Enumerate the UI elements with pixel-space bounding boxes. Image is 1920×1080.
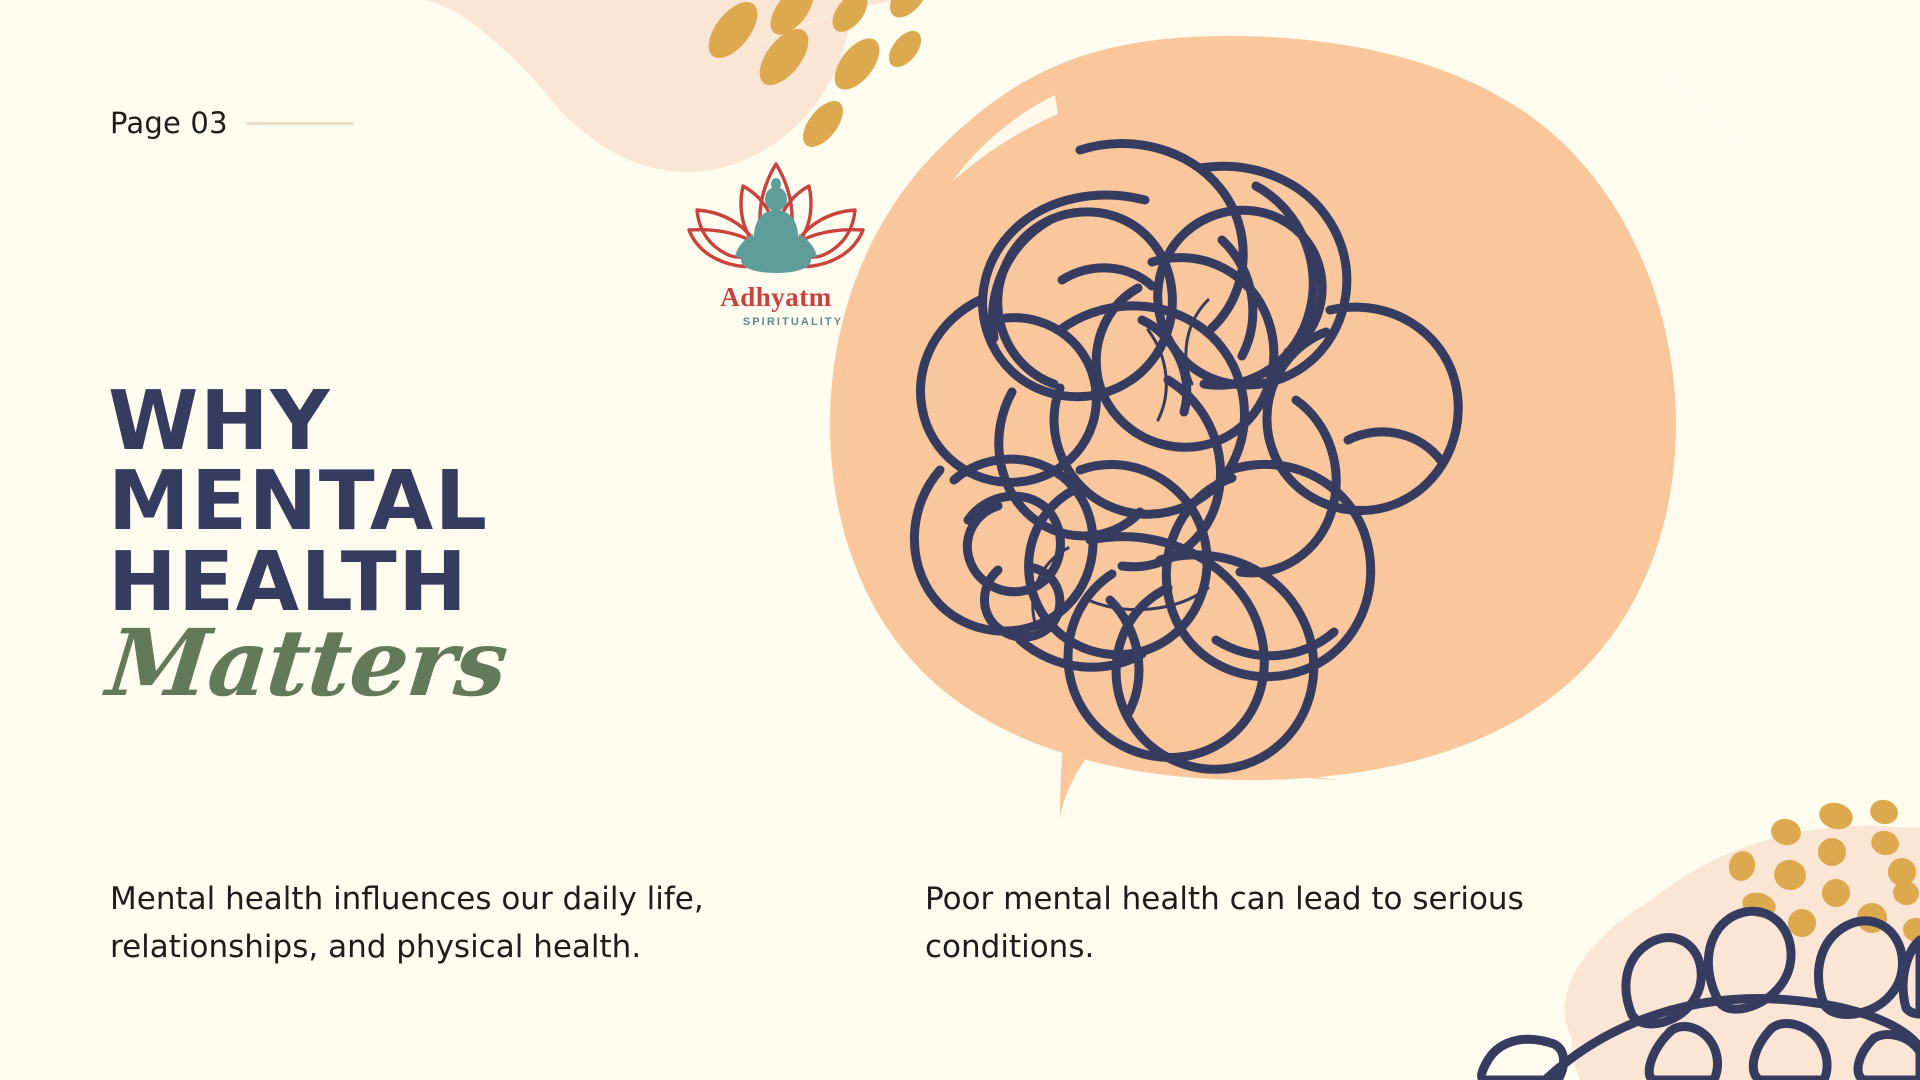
brand-logo: Adhyatm SPIRITUALITY	[668, 148, 884, 328]
blob-bottom-right	[1572, 826, 1920, 1080]
branch-leaf-u4	[1903, 940, 1920, 1014]
headline-line-1: WHY	[108, 382, 506, 462]
gold-dots-top	[699, 0, 935, 154]
page-marker-rule	[246, 122, 354, 125]
branch-leaf-l1	[1482, 1039, 1564, 1080]
headline-script-word: Matters	[103, 617, 511, 709]
blob-top-left	[400, 0, 900, 94]
page-number-label: Page 03	[110, 106, 228, 140]
tangled-thought-scribble	[914, 144, 1458, 770]
lotus-meditation-icon	[681, 148, 871, 288]
branch-leaf-l2	[1649, 1027, 1717, 1080]
bubble-highlight-right	[1658, 70, 1800, 254]
blob-bottom-right-core	[1539, 783, 1920, 1080]
page-marker: Page 03	[110, 106, 354, 140]
speech-bubble-tail	[1060, 672, 1136, 820]
branch-leaf-l4	[1858, 1034, 1920, 1080]
tangled-thought-scribble-thin	[1033, 300, 1208, 626]
branch-leaf-l3	[1753, 1024, 1827, 1080]
branch-stem	[1545, 999, 1920, 1080]
page-title: WHY MENTAL HEALTH Matters	[108, 382, 506, 709]
logo-wordmark: Adhyatm	[668, 284, 884, 311]
bubble-highlight-bottom	[1110, 704, 1340, 780]
body-paragraph-left: Mental health influences our daily life,…	[110, 875, 770, 971]
bubble-highlight-left	[952, 95, 1058, 182]
gold-dots-bottom	[1726, 797, 1920, 945]
slide-canvas: Page 03	[0, 0, 1920, 1080]
body-paragraph-right: Poor mental health can lead to serious c…	[925, 875, 1525, 971]
meditating-figure	[735, 178, 817, 273]
logo-tagline: SPIRITUALITY	[668, 316, 884, 328]
branch-leaf-u2	[1708, 911, 1791, 1009]
branch-leaf-u1	[1626, 938, 1701, 1024]
speech-bubble-body	[830, 36, 1676, 780]
branch-leaf-u3	[1819, 921, 1903, 1015]
headline-line-2: MENTAL	[108, 462, 506, 542]
